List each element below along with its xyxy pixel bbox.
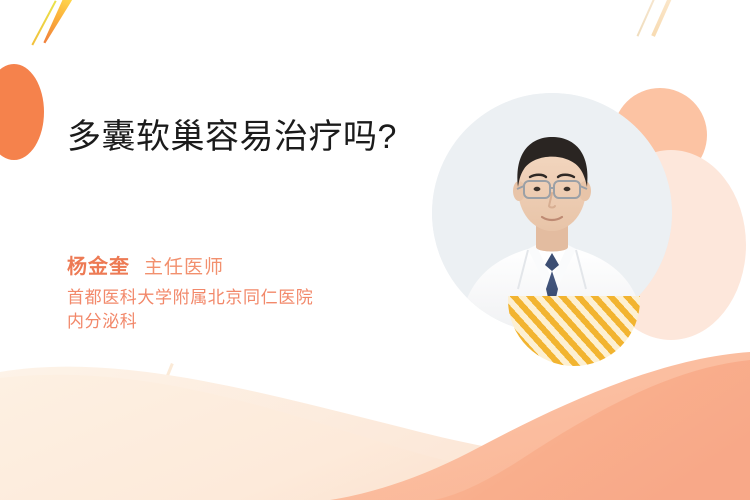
doctor-identity-line: 杨金奎 主任医师 (67, 250, 224, 279)
doctor-name: 杨金奎 (67, 250, 130, 279)
yellow-striped-arc-decoration (508, 296, 640, 366)
doctor-department: 内分泌科 (67, 310, 397, 334)
yellow-striped-arc-inner (508, 296, 640, 366)
doctor-info-card: 多囊软巢容易治疗吗? 杨金奎 主任医师 首都医科大学附属北京同仁医院 内分泌科 (0, 0, 750, 500)
doctor-rank: 主任医师 (144, 252, 224, 279)
doctor-affiliation: 首都医科大学附属北京同仁医院 内分泌科 (67, 286, 397, 334)
page-title: 多囊软巢容易治疗吗? (67, 117, 417, 157)
doctor-hospital: 首都医科大学附属北京同仁医院 (67, 286, 397, 310)
